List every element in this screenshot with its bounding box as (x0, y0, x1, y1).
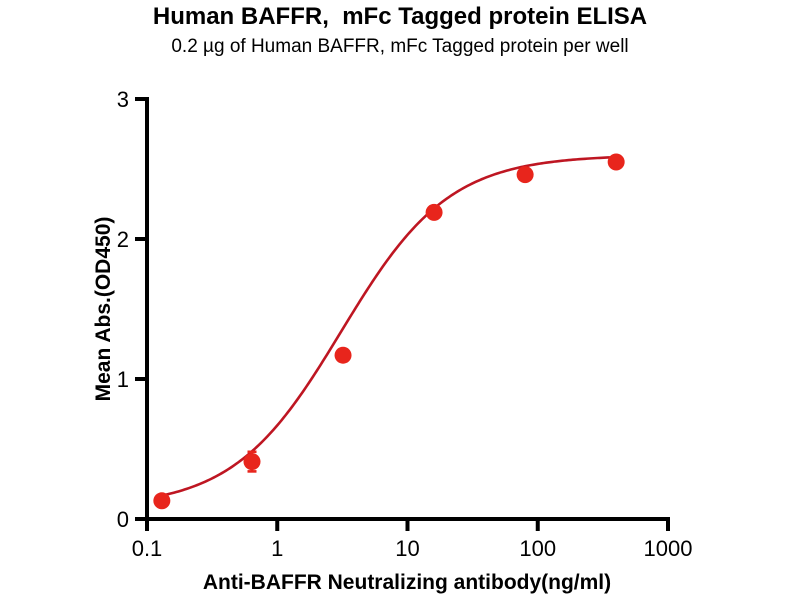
x-tick-label: 1 (271, 536, 283, 561)
fit-curve (162, 157, 616, 495)
y-tick-label: 3 (117, 87, 129, 112)
data-point (426, 204, 443, 221)
data-point (335, 347, 352, 364)
y-tick-group: 0123 (117, 87, 147, 532)
x-tick-label: 0.1 (132, 536, 163, 561)
x-tick-label: 10 (395, 536, 419, 561)
y-axis-title: Mean Abs.(OD450) (92, 217, 115, 402)
x-tick-label: 100 (519, 536, 556, 561)
data-point (517, 166, 534, 183)
fit-curve-group (162, 157, 616, 495)
y-tick-label: 2 (117, 227, 129, 252)
data-point (153, 492, 170, 509)
axes-group (147, 99, 668, 519)
data-point (244, 453, 261, 470)
plot-area: 0123 0.11101001000 Mean Abs.(OD450) Anti… (0, 0, 800, 600)
x-axis-title: Anti-BAFFR Neutralizing antibody(ng/ml) (203, 571, 611, 594)
data-point (608, 154, 625, 171)
elisa-chart-figure: Human BAFFR, mFc Tagged protein ELISA 0.… (0, 0, 800, 600)
y-tick-label: 1 (117, 367, 129, 392)
x-tick-label: 1000 (644, 536, 693, 561)
y-tick-label: 0 (117, 507, 129, 532)
x-tick-group: 0.11101001000 (132, 519, 693, 561)
data-point-group (153, 154, 624, 510)
